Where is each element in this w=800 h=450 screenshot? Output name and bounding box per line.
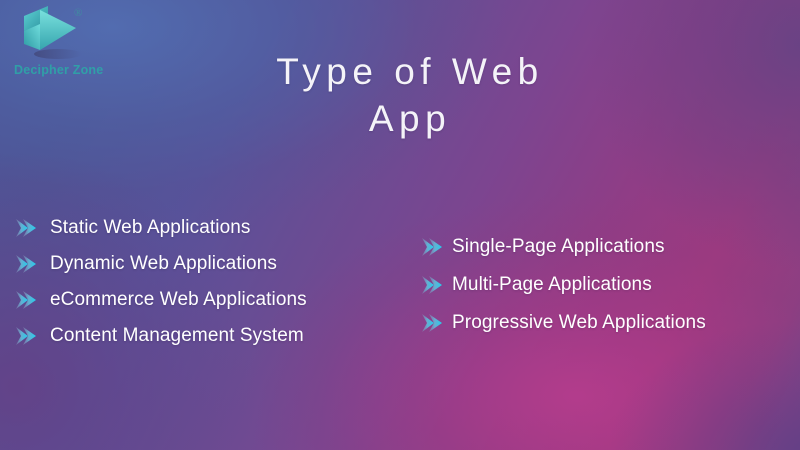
chevron-right-icon bbox=[14, 217, 40, 239]
chevron-right-icon bbox=[14, 253, 40, 275]
page-title: Type of Web App bbox=[200, 48, 620, 143]
list-item-label: Multi-Page Applications bbox=[452, 274, 652, 296]
list-item[interactable]: Content Management System bbox=[14, 318, 307, 354]
chevron-right-icon bbox=[420, 312, 446, 334]
list-item-label: Content Management System bbox=[50, 325, 304, 347]
list-item[interactable]: Progressive Web Applications bbox=[420, 304, 706, 342]
list-item[interactable]: eCommerce Web Applications bbox=[14, 282, 307, 318]
list-item-label: Progressive Web Applications bbox=[452, 312, 706, 334]
web-app-types-right-column: Single-Page Applications Multi-Page Appl… bbox=[420, 228, 706, 342]
chevron-right-icon bbox=[14, 289, 40, 311]
list-item[interactable]: Single-Page Applications bbox=[420, 228, 706, 266]
chevron-right-icon bbox=[420, 236, 446, 258]
list-item-label: Static Web Applications bbox=[50, 217, 251, 239]
list-item[interactable]: Dynamic Web Applications bbox=[14, 246, 307, 282]
chevron-right-icon bbox=[14, 325, 40, 347]
registered-trademark-icon: ® bbox=[74, 8, 82, 19]
brand-name: Decipher Zone bbox=[14, 63, 103, 77]
list-item-label: eCommerce Web Applications bbox=[50, 289, 307, 311]
list-item[interactable]: Static Web Applications bbox=[14, 210, 307, 246]
brand-logo: ® Decipher Zone bbox=[14, 4, 134, 84]
list-item-label: Single-Page Applications bbox=[452, 236, 665, 258]
slide-canvas: ® Decipher Zone Type of Web App Static W… bbox=[0, 0, 800, 450]
list-item[interactable]: Multi-Page Applications bbox=[420, 266, 706, 304]
list-item-label: Dynamic Web Applications bbox=[50, 253, 277, 275]
web-app-types-left-column: Static Web Applications Dynamic Web Appl… bbox=[14, 210, 307, 354]
chevron-right-icon bbox=[420, 274, 446, 296]
